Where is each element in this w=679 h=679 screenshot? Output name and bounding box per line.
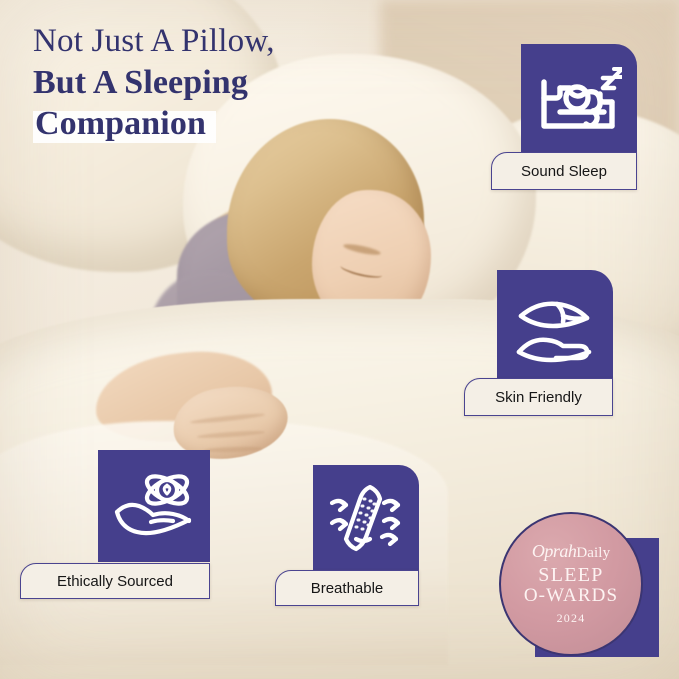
feature-icon-tile [497, 270, 613, 386]
feature-badge-breathable: Breathable [313, 465, 419, 571]
award-brand-rest: Daily [576, 545, 610, 561]
headline: Not Just A Pillow, But A Sleeping Compan… [33, 24, 275, 143]
hand-holding-atom-heart-icon [111, 466, 197, 546]
feature-badge-skin-friendly: Skin Friendly [497, 270, 613, 386]
feature-icon-tile [98, 450, 210, 562]
award-brand-script: Oprah [532, 541, 577, 561]
feature-badge-ethically-sourced: Ethically Sourced [98, 450, 210, 562]
award-year: 2024 [557, 611, 586, 626]
headline-line-3: Companion [33, 106, 216, 143]
hand-holding-leaf-icon [511, 290, 599, 366]
award-seal: OprahDaily SLEEP O-WARDS 2024 [499, 512, 659, 657]
feature-label-ethically-sourced: Ethically Sourced [20, 563, 210, 599]
fabric-airflow-arrows-icon [326, 479, 406, 557]
feature-badge-sound-sleep: Sound Sleep [521, 44, 637, 160]
feature-icon-tile [313, 465, 419, 571]
product-marketing-image: Not Just A Pillow, But A Sleeping Compan… [0, 0, 679, 679]
headline-line-2: But A Sleeping [33, 65, 275, 100]
award-brand: OprahDaily [532, 542, 610, 561]
award-disc: OprahDaily SLEEP O-WARDS 2024 [499, 512, 643, 656]
headline-line-1: Not Just A Pillow, [33, 24, 275, 58]
feature-icon-tile [521, 44, 637, 160]
feature-label-breathable: Breathable [275, 570, 419, 606]
bed-sleeping-person-zz-icon [536, 62, 622, 142]
award-line-1: SLEEP [538, 565, 603, 585]
award-line-2: O-WARDS [524, 586, 618, 606]
feature-label-skin-friendly: Skin Friendly [464, 378, 613, 416]
feature-label-sound-sleep: Sound Sleep [491, 152, 637, 190]
